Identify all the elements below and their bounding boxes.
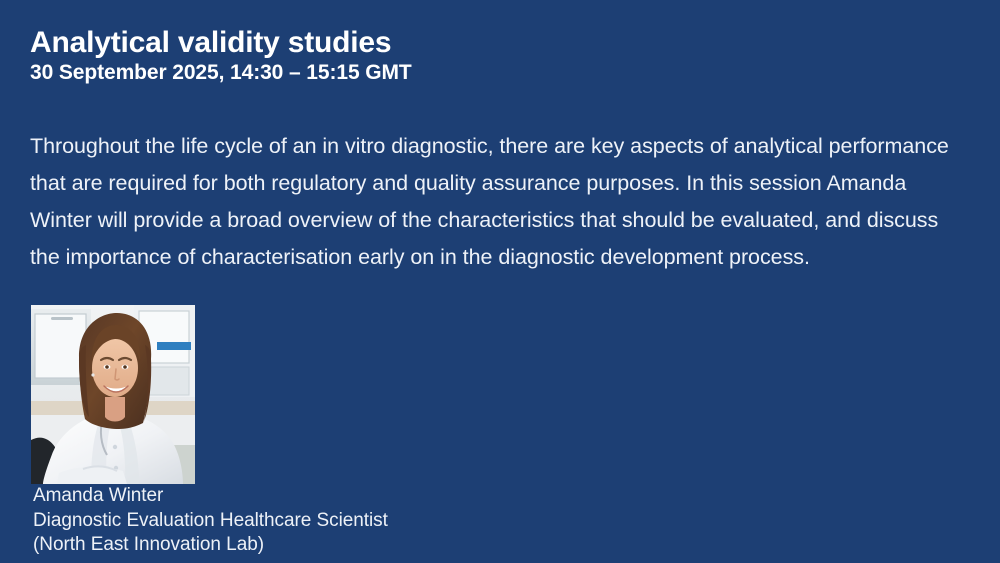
session-datetime: 30 September 2025, 14:30 – 15:15 GMT [30,59,970,87]
speaker-name: Amanda Winter [33,484,633,509]
page-title: Analytical validity studies [30,24,970,62]
speaker-portrait-icon [31,305,195,484]
speaker-photo [31,305,195,484]
speaker-caption: Amanda Winter Diagnostic Evaluation Heal… [33,484,633,558]
session-slide: Analytical validity studies 30 September… [0,0,1000,563]
speaker-affiliation: (North East Innovation Lab) [33,533,633,558]
session-abstract: Throughout the life cycle of an in vitro… [30,128,962,276]
speaker-role: Diagnostic Evaluation Healthcare Scienti… [33,509,633,534]
